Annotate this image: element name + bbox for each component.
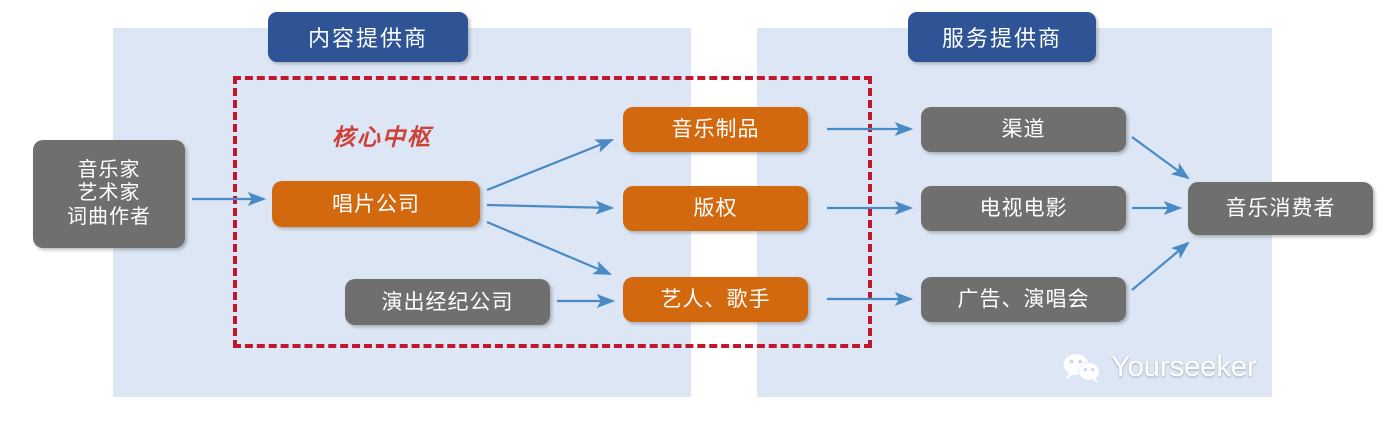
diagram-canvas: 内容提供商 服务提供商 核心中枢 音乐家 艺术家 词曲作者 唱片公司 演出经纪公…: [0, 0, 1397, 427]
node-tv-film: 电视电影: [921, 186, 1126, 231]
node-ads-concerts-label: 广告、演唱会: [958, 287, 1090, 312]
node-performance-agency: 演出经纪公司: [345, 279, 550, 325]
node-tv-film-label: 电视电影: [980, 196, 1068, 221]
core-hub-label: 核心中枢: [332, 118, 432, 152]
node-ads-concerts: 广告、演唱会: [921, 277, 1126, 322]
watermark: Yourseeker: [1062, 351, 1257, 384]
node-creators-line-2: 艺术家: [78, 182, 141, 206]
header-service-provider-label: 服务提供商: [942, 21, 1062, 53]
header-content-provider-label: 内容提供商: [308, 21, 428, 53]
node-music-consumers-label: 音乐消费者: [1226, 196, 1336, 221]
node-music-consumers: 音乐消费者: [1188, 182, 1373, 235]
node-music-products: 音乐制品: [623, 107, 808, 152]
node-music-products-label: 音乐制品: [672, 117, 760, 142]
node-artists-singers: 艺人、歌手: [623, 277, 808, 322]
node-artists-singers-label: 艺人、歌手: [661, 287, 771, 312]
node-creators: 音乐家 艺术家 词曲作者: [33, 140, 185, 248]
node-creators-line-3: 词曲作者: [67, 206, 151, 230]
node-copyright: 版权: [623, 186, 808, 231]
node-record-company-label: 唱片公司: [332, 192, 420, 217]
node-creators-line-1: 音乐家: [78, 159, 141, 183]
node-record-company: 唱片公司: [272, 181, 480, 227]
watermark-label: Yourseeker: [1111, 351, 1257, 384]
node-channel: 渠道: [921, 107, 1126, 152]
node-copyright-label: 版权: [694, 196, 738, 221]
node-performance-agency-label: 演出经纪公司: [382, 290, 514, 315]
header-pill-service-provider: 服务提供商: [908, 12, 1096, 62]
node-channel-label: 渠道: [1002, 117, 1046, 142]
header-pill-content-provider: 内容提供商: [268, 12, 468, 62]
wechat-icon: [1062, 352, 1102, 384]
